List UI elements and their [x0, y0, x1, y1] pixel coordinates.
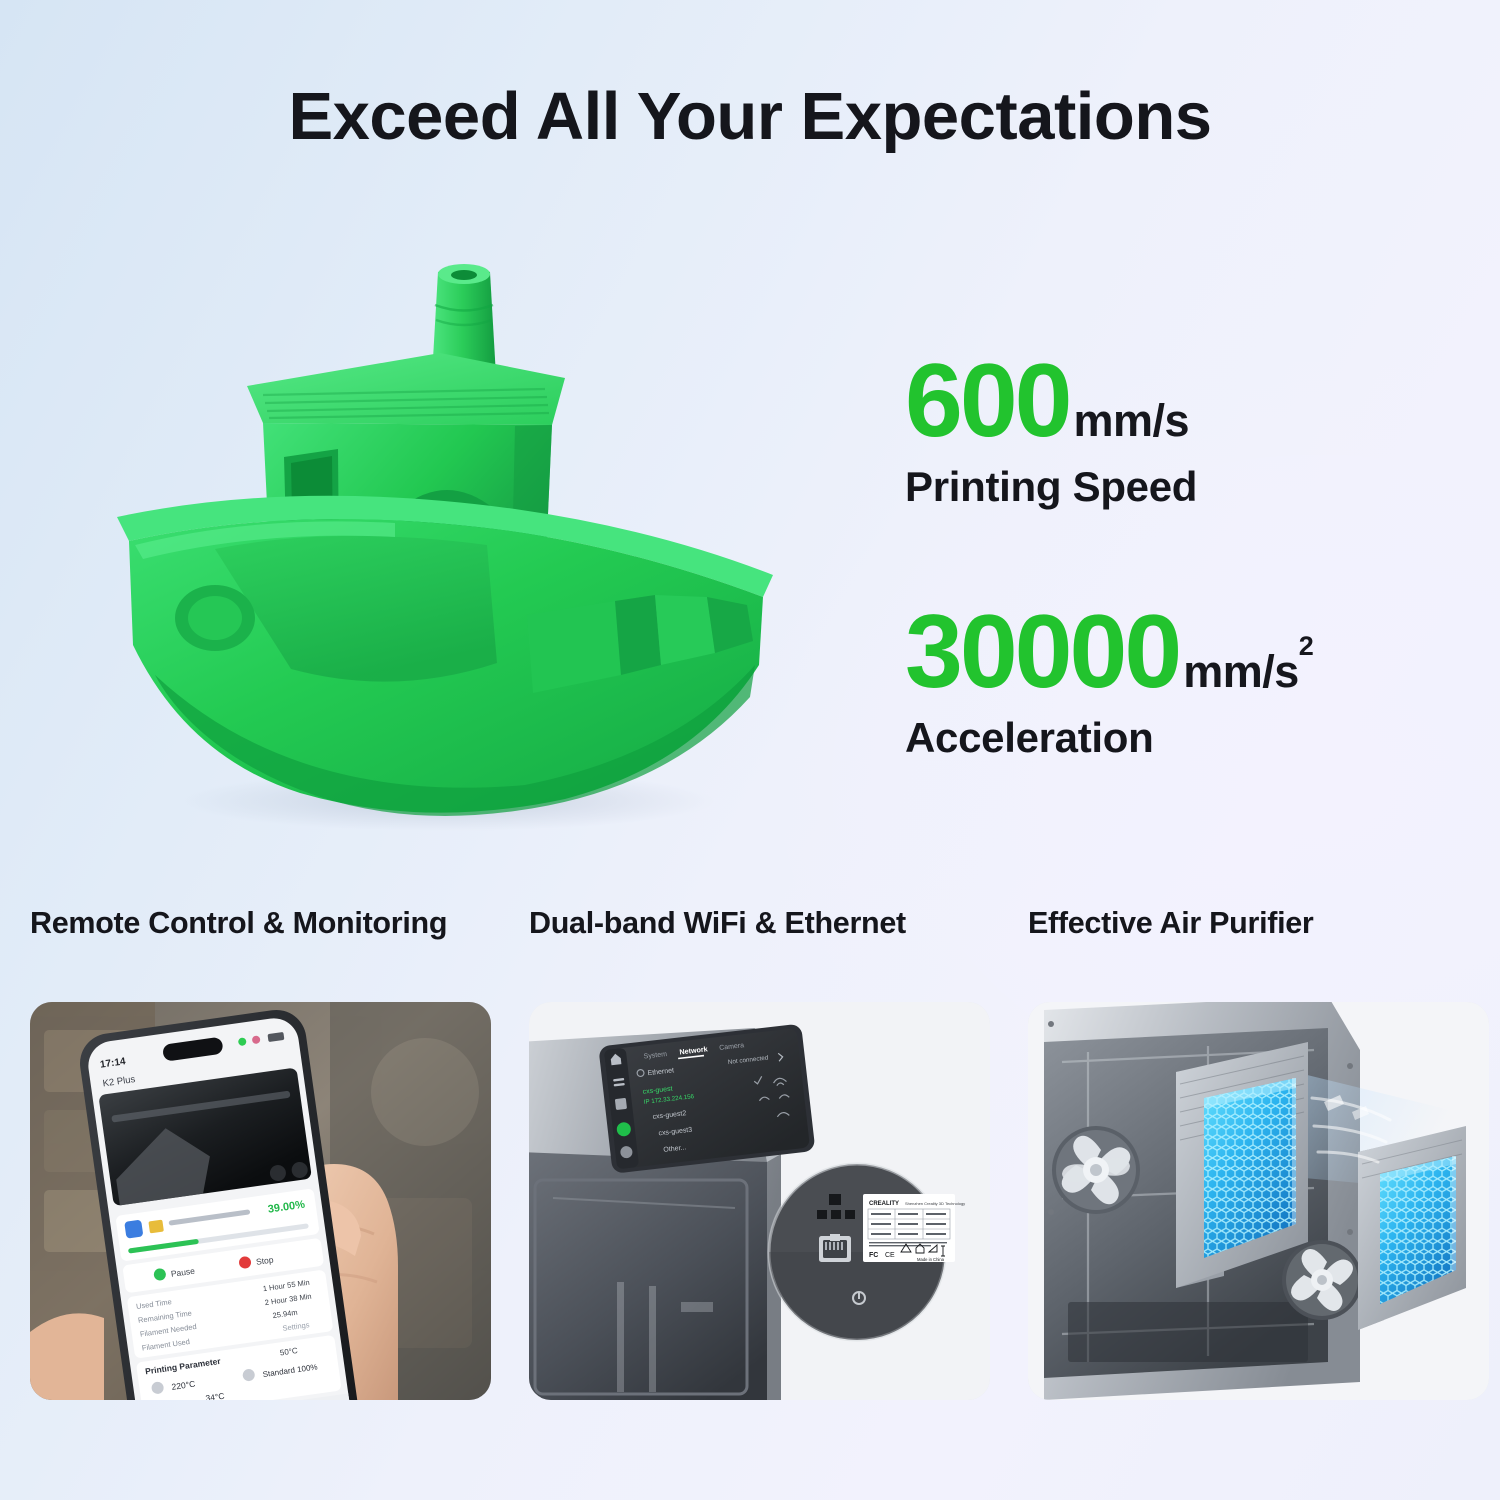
- feature-dual-band-wifi-ethernet: Dual-band WiFi & Ethernet: [529, 905, 990, 1500]
- feature-title-remote-control: Remote Control & Monitoring: [30, 905, 491, 985]
- page-title: Exceed All Your Expectations: [0, 78, 1500, 155]
- specs-list: 600 mm/s Printing Speed 30000 mm/s2 Acce…: [905, 352, 1445, 854]
- cert-fcc-icon: FC: [869, 1252, 878, 1259]
- feature-image-air-purifier: [1028, 1002, 1489, 1400]
- phone-in-hand-photo: 17:14 K2 Plus: [30, 1002, 491, 1400]
- feature-title-air-purifier: Effective Air Purifier: [1028, 905, 1489, 985]
- rj45-port: [819, 1234, 851, 1262]
- stat-label-acceleration: Acceleration: [905, 714, 1445, 762]
- stat-label-printing-speed: Printing Speed: [905, 463, 1445, 511]
- cooling-fan-left: [1052, 1126, 1140, 1214]
- stat-acceleration: 30000 mm/s2 Acceleration: [905, 603, 1445, 762]
- feature-effective-air-purifier: Effective Air Purifier: [1028, 905, 1489, 1500]
- feature-title-dual-band-wifi: Dual-band WiFi & Ethernet: [529, 905, 990, 985]
- boat-cabin-roof: [247, 353, 565, 425]
- cert-ce-icon: CE: [885, 1252, 895, 1259]
- stat-value-printing-speed: 600: [905, 352, 1070, 451]
- stat-unit-exponent: 2: [1299, 631, 1314, 661]
- feature-image-remote-control: 17:14 K2 Plus: [30, 1002, 491, 1400]
- boat-hull: [117, 496, 773, 816]
- label-brand: CREALITY: [869, 1201, 899, 1207]
- feature-image-dual-band-wifi: System Network Camera Ethernet Not conne…: [529, 1002, 990, 1400]
- cooling-fan-right: [1282, 1240, 1362, 1320]
- printer-interior-filters-photo: [1028, 1002, 1489, 1400]
- stat-unit-acceleration: mm/s2: [1183, 646, 1313, 698]
- product-spec-label: CREALITY Shenzhen Creality 3D Technology: [863, 1194, 965, 1262]
- feature-grid: Remote Control & Monitoring: [0, 905, 1500, 1500]
- stat-printing-speed: 600 mm/s Printing Speed: [905, 352, 1445, 511]
- stat-unit-printing-speed: mm/s: [1074, 395, 1190, 447]
- phone-chamber-temp: 34°C: [205, 1391, 225, 1400]
- benchy-boat-illustration: [95, 245, 795, 835]
- stat-value-acceleration: 30000: [905, 603, 1179, 702]
- label-origin: Made in China: [917, 1257, 945, 1262]
- feature-remote-control-monitoring: Remote Control & Monitoring: [30, 905, 491, 1500]
- label-company: Shenzhen Creality 3D Technology: [905, 1201, 965, 1206]
- product-image-3dbenchy: [95, 245, 795, 835]
- printer-touchscreen-photo: System Network Camera Ethernet Not conne…: [529, 1002, 990, 1400]
